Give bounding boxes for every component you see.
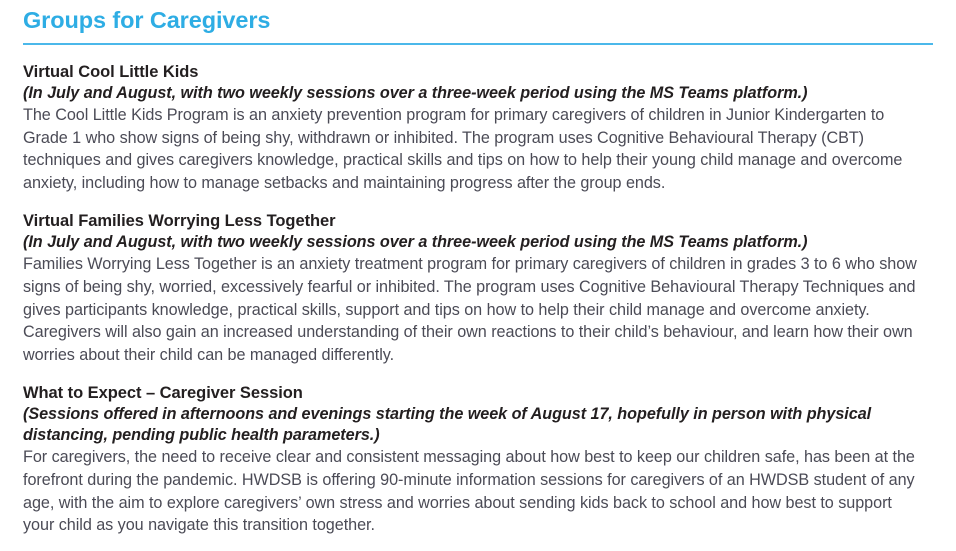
section-body: For caregivers, the need to receive clea… xyxy=(23,446,923,536)
page-title: Groups for Caregivers xyxy=(23,0,933,33)
title-divider xyxy=(23,43,933,46)
section-subtitle: (In July and August, with two weekly ses… xyxy=(23,232,918,253)
document-page: Groups for Caregivers Virtual Cool Littl… xyxy=(0,0,956,551)
section-heading: Virtual Cool Little Kids xyxy=(23,62,933,83)
section-subtitle: (In July and August, with two weekly ses… xyxy=(23,83,918,104)
section-body: The Cool Little Kids Program is an anxie… xyxy=(23,104,923,194)
section-body: Families Worrying Less Together is an an… xyxy=(23,253,923,366)
sections-container: Virtual Cool Little Kids (In July and Au… xyxy=(23,62,933,537)
section-what-to-expect-caregiver-session: What to Expect – Caregiver Session (Sess… xyxy=(23,383,933,536)
section-heading: Virtual Families Worrying Less Together xyxy=(23,211,933,232)
section-virtual-families-worrying-less-together: Virtual Families Worrying Less Together … xyxy=(23,211,933,366)
section-subtitle: (Sessions offered in afternoons and even… xyxy=(23,404,918,446)
section-virtual-cool-little-kids: Virtual Cool Little Kids (In July and Au… xyxy=(23,62,933,194)
section-heading: What to Expect – Caregiver Session xyxy=(23,383,933,404)
